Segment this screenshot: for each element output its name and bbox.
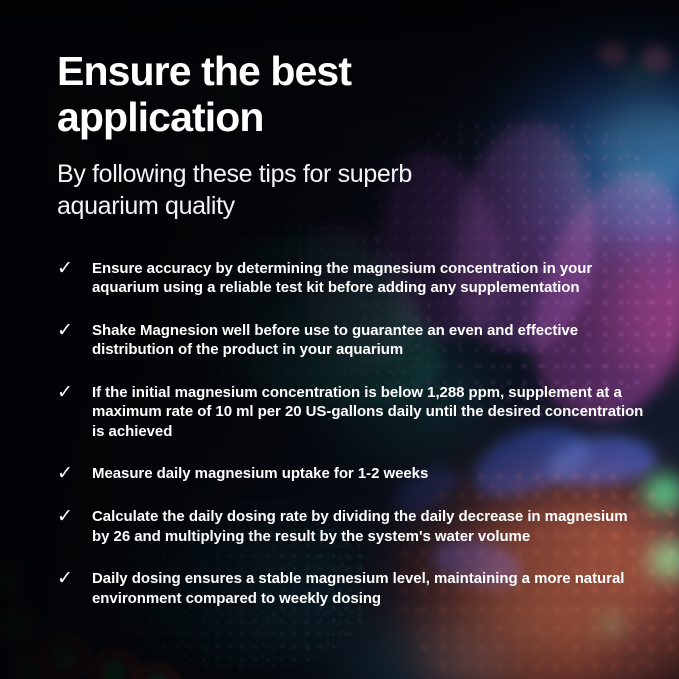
list-item: ✓ Calculate the daily dosing rate by div… (57, 507, 645, 546)
list-item: ✓ Ensure accuracy by determining the mag… (57, 259, 645, 298)
tip-text: Daily dosing ensures a stable magnesium … (92, 569, 645, 608)
list-item: ✓ Measure daily magnesium uptake for 1-2… (57, 464, 645, 484)
checkmark-icon: ✓ (57, 507, 79, 527)
tip-text: Ensure accuracy by determining the magne… (92, 259, 645, 298)
tip-text: If the initial magnesium concentration i… (92, 383, 645, 442)
checkmark-icon: ✓ (57, 259, 79, 279)
checkmark-icon: ✓ (57, 383, 79, 403)
poster-content: Ensure the best application By following… (0, 0, 679, 679)
list-item: ✓ If the initial magnesium concentration… (57, 383, 645, 442)
promotional-poster: Ensure the best application By following… (0, 0, 679, 679)
tip-text: Measure daily magnesium uptake for 1-2 w… (92, 464, 428, 484)
list-item: ✓ Shake Magnesion well before use to gua… (57, 321, 645, 360)
checkmark-icon: ✓ (57, 321, 79, 341)
checkmark-icon: ✓ (57, 569, 79, 589)
page-title: Ensure the best application (57, 48, 487, 141)
tip-text: Calculate the daily dosing rate by divid… (92, 507, 645, 546)
list-item: ✓ Daily dosing ensures a stable magnesiu… (57, 569, 645, 608)
checkmark-icon: ✓ (57, 464, 79, 484)
page-subtitle: By following these tips for superb aquar… (57, 158, 457, 222)
tip-text: Shake Magnesion well before use to guara… (92, 321, 645, 360)
tips-list: ✓ Ensure accuracy by determining the mag… (57, 259, 645, 609)
